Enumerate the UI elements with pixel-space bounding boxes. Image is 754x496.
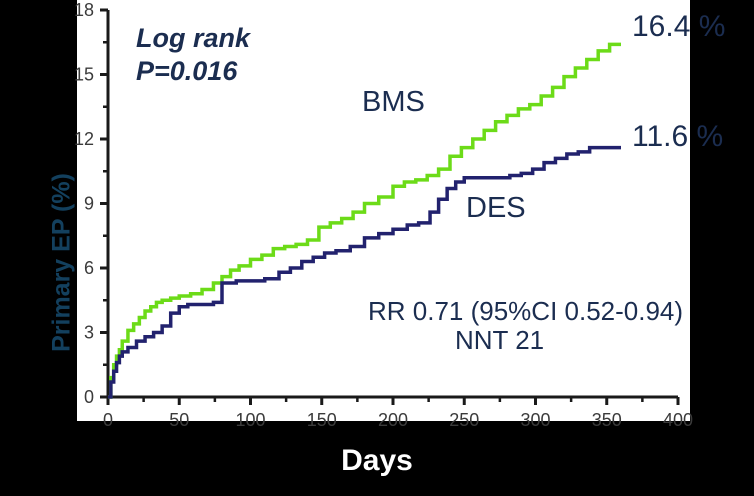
series-label-des: DES	[466, 192, 526, 225]
y-tick-label: 18	[74, 0, 94, 20]
x-tick-label: 150	[307, 410, 337, 430]
logrank-annotation: Log rank P=0.016	[136, 22, 250, 88]
kaplan-meier-plot: 0501001502002503003504000369121518	[0, 0, 754, 496]
series-label-bms: BMS	[362, 86, 425, 119]
x-tick-label: 400	[663, 410, 693, 430]
x-tick-label: 50	[169, 410, 189, 430]
endpoint-value-des: 11.6 %	[632, 120, 723, 154]
y-axis-title: Primary EP (%)	[48, 113, 77, 413]
y-tick-label: 15	[74, 65, 94, 85]
x-tick-label: 200	[378, 410, 408, 430]
x-tick-label: 0	[103, 410, 113, 430]
chart-root: 0501001502002503003504000369121518 Prima…	[0, 0, 754, 496]
series-line-des	[108, 148, 621, 397]
x-tick-label: 250	[449, 410, 479, 430]
logrank-line2: P=0.016	[136, 55, 250, 88]
rr-annotation-line1: RR 0.71 (95%CI 0.52-0.94)	[368, 296, 683, 327]
y-tick-label: 12	[74, 129, 94, 149]
y-tick-label: 3	[84, 323, 94, 343]
y-tick-label: 0	[84, 387, 94, 407]
endpoint-value-bms: 16.4 %	[632, 10, 725, 44]
rr-annotation-line2: NNT 21	[455, 325, 544, 356]
x-tick-label: 350	[592, 410, 622, 430]
x-tick-label: 300	[520, 410, 550, 430]
logrank-line1: Log rank	[136, 22, 250, 55]
x-axis-title: Days	[0, 444, 754, 478]
x-tick-label: 100	[235, 410, 265, 430]
y-tick-label: 9	[84, 194, 94, 214]
y-tick-label: 6	[84, 258, 94, 278]
